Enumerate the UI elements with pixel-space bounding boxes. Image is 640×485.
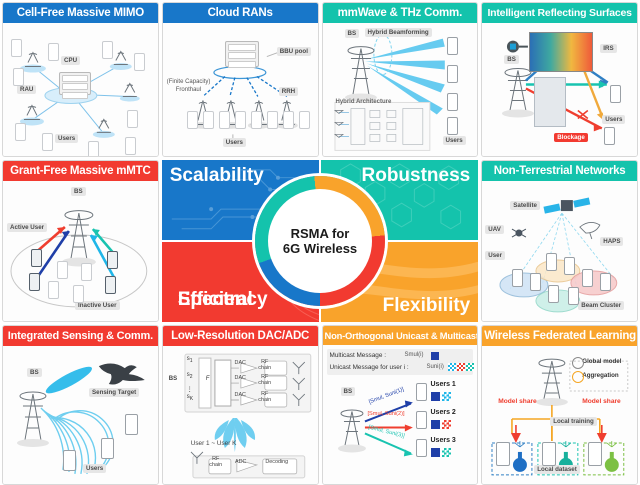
user1-phone — [416, 383, 427, 401]
irs-surface-icon — [529, 32, 593, 72]
label-bs: BS — [341, 387, 356, 396]
label-ellipsis: ⋮ — [187, 386, 193, 393]
label-irs: IRS — [600, 44, 616, 53]
user-phone — [127, 110, 138, 128]
user-phone — [604, 127, 615, 145]
label-dac: DAC — [233, 359, 248, 367]
user-phone — [42, 133, 53, 151]
panel-cloud-rans: Cloud RANs BBU pool — [162, 2, 319, 157]
user-phone — [13, 68, 24, 86]
label-users-3: Users 3 — [431, 437, 456, 444]
panel-grant-free-massive-mmtc: Grant-Free Massive mMTC BS — [2, 160, 159, 322]
arrow-label-user2: [Smul, Suni(2)] — [368, 411, 405, 417]
label-adc: ADC — [233, 457, 249, 466]
panel-diagram: BS Sensing Target Users — [3, 346, 158, 484]
panel-diagram: CPU RAU Users — [3, 23, 158, 156]
label-cpu: CPU — [61, 56, 80, 65]
active-user-phone — [107, 251, 118, 269]
label-bs: BS — [345, 29, 360, 38]
panel-wireless-federated-learning: Wireless Federated Learning — [481, 325, 638, 485]
user-phone — [600, 273, 611, 291]
device-phone — [542, 442, 556, 466]
user-phone — [610, 85, 621, 103]
label-fronthaul: Fronthaul — [176, 87, 201, 93]
label-bs: BS — [27, 368, 42, 377]
rsma-center-title: RSMA for 6G Wireless — [265, 226, 375, 256]
label-s2: s2 — [187, 372, 193, 380]
panel-non-terrestrial-networks: Non-Terrestrial Networks — [481, 160, 638, 322]
label-user: User — [485, 251, 505, 260]
active-user-phone — [29, 273, 40, 291]
quadrant-label-flexibility: Flexibility — [383, 296, 471, 316]
panel-diagram: BS Active User Inactive User — [3, 181, 158, 321]
user1-unicast-swatch — [442, 392, 451, 401]
label-haps: HAPS — [600, 237, 623, 246]
label-blockage: Blockage — [554, 133, 588, 142]
panel-title: Non-Terrestrial Networks — [482, 161, 637, 181]
user-phone — [203, 111, 214, 129]
user-phone — [134, 53, 145, 71]
user-phone — [546, 253, 557, 271]
label-users: Users — [83, 464, 106, 473]
panel-cell-free-massive-mimo: Cell-Free Massive MIMO — [2, 2, 159, 157]
rsma-6g-overview-figure: Cell-Free Massive MIMO — [0, 0, 640, 477]
label-users: Users — [443, 136, 466, 145]
user-phone — [219, 111, 230, 129]
active-user-phone — [105, 276, 116, 294]
user-phone — [48, 43, 59, 61]
label-rf-chain: RF chain — [255, 373, 275, 386]
label-model-share-left: Model share — [498, 398, 536, 405]
user-phone — [512, 269, 523, 287]
active-user-phone — [31, 249, 42, 267]
label-users-2: Users 2 — [431, 409, 456, 416]
user-phone — [187, 111, 198, 129]
panel-title: Integrated Sensing & Comm. — [3, 326, 158, 346]
label-users: Users — [223, 138, 246, 147]
label-hybrid-architecture: Hybrid Architecture — [336, 99, 392, 105]
panel-non-orthogonal-unicast-multicast: Non-Orthogonal Unicast & Multicast Multi… — [322, 325, 479, 485]
panel-title: Non-Orthogonal Unicast & Multicast — [323, 326, 478, 345]
label-rf-chain: RF chain — [255, 358, 275, 371]
panel-title: Cell-Free Massive MIMO — [3, 3, 158, 23]
center-title-line2: 6G Wireless — [283, 241, 357, 256]
user-phone — [582, 269, 593, 287]
user3-unicast-swatch — [442, 448, 451, 457]
inactive-user-phone — [73, 285, 84, 303]
user-phone — [447, 37, 458, 55]
label-f-matrix: F — [206, 376, 210, 382]
user-phone — [564, 257, 575, 275]
panel-diagram: BS Hybrid Beamforming Hybrid Architectur… — [323, 23, 478, 156]
panel-low-resolution-dac-adc: Low-Resolution DAC/ADC — [162, 325, 319, 485]
user-phone — [125, 414, 138, 435]
label-aggregation: Aggregation — [582, 372, 618, 379]
label-bbu-pool: BBU pool — [277, 47, 311, 56]
user-phone — [447, 117, 458, 135]
label-local-training: Local training — [550, 417, 597, 426]
label-model-share-right: Model share — [582, 398, 620, 405]
label-users: Users — [55, 134, 78, 143]
label-beam-cluster: Beam Cluster — [578, 301, 624, 310]
quadrant-label-scalability: Scalability — [170, 166, 264, 186]
panel-diagram: BS s1 s2 ⋮ sK F DAC DAC DAC RF chain RF … — [163, 346, 318, 484]
label-rau: RAU — [17, 85, 36, 94]
user-phone — [15, 123, 26, 141]
label-bs: BS — [504, 55, 519, 64]
label-dac: DAC — [233, 374, 248, 382]
user3-phone — [416, 439, 427, 457]
label-hybrid-beamforming: Hybrid Beamforming — [365, 28, 432, 37]
device-phone — [588, 442, 602, 466]
user-phone — [235, 111, 246, 129]
user-phone — [447, 93, 458, 111]
panel-title: mmWave & THz Comm. — [323, 3, 478, 23]
label-sk: sK — [187, 394, 193, 402]
user-phone — [102, 41, 113, 59]
inactive-user-phone — [48, 281, 59, 299]
panel-title: Cloud RANs — [163, 3, 318, 23]
user2-unicast-swatch — [442, 420, 451, 429]
label-active-user: Active User — [7, 223, 47, 232]
panel-diagram: IRS BS Users Blockage — [482, 23, 637, 156]
user-phone — [447, 65, 458, 83]
quadrant-label-robustness: Robustness — [362, 166, 471, 186]
panel-mmwave-thz-comm: mmWave & THz Comm. — [322, 2, 479, 157]
label-satellite: Satellite — [510, 201, 540, 210]
user-phone — [568, 287, 579, 305]
user-phone — [530, 273, 541, 291]
user1-multicast-swatch — [431, 392, 440, 401]
user-phone — [88, 141, 99, 156]
device-phone — [496, 442, 510, 466]
label-sensing-target: Sensing Target — [89, 388, 139, 397]
label-dac: DAC — [233, 391, 248, 399]
panel-diagram: Global model Aggregation Model share Mod… — [482, 346, 637, 484]
user2-phone — [416, 411, 427, 429]
inactive-user-phone — [81, 263, 92, 281]
bbu-pool-icon — [225, 41, 259, 67]
panel-intelligent-reflecting-surfaces: Intelligent Reflecting Surfaces — [481, 2, 638, 157]
ntn-svg — [482, 181, 637, 321]
label-rf-chain: RF chain — [206, 455, 226, 468]
panel-title: Intelligent Reflecting Surfaces — [482, 3, 637, 23]
user-phone — [267, 111, 278, 129]
user-phone — [299, 111, 310, 129]
building-icon — [534, 77, 566, 127]
label-user-range: User 1 ~ User K — [191, 440, 237, 447]
panel-diagram: Multicast Message : Smul(i) Unicast Mess… — [323, 345, 478, 484]
label-users-1: Users 1 — [431, 381, 456, 388]
inactive-user-phone — [57, 261, 68, 279]
user3-multicast-swatch — [431, 448, 440, 457]
label-s1: s1 — [187, 356, 193, 364]
user-phone — [548, 285, 559, 303]
panel-diagram: BBU pool RRH (Finite Capacity) Fronthaul… — [163, 23, 318, 156]
panel-diagram: Satellite UAV HAPS User Beam Cluster — [482, 181, 637, 321]
cpu-server-icon — [59, 72, 91, 95]
user-phone — [63, 450, 76, 471]
label-users: Users — [602, 115, 625, 124]
user-phone — [283, 111, 294, 129]
label-bs: BS — [169, 376, 177, 382]
label-finite-capacity: (Finite Capacity) — [167, 79, 211, 85]
label-decoding: Decoding — [261, 456, 293, 467]
label-rf-chain: RF chain — [255, 390, 275, 403]
center-title-line1: RSMA for — [291, 226, 350, 241]
label-global-model: Global model — [582, 358, 621, 365]
panel-integrated-sensing-comm: Integrated Sensing & Comm. — [2, 325, 159, 485]
label-uav: UAV — [485, 225, 504, 234]
user-phone — [125, 137, 136, 155]
label-rrh: RRH — [279, 87, 298, 96]
panel-title: Wireless Federated Learning — [482, 326, 637, 346]
user-phone — [251, 111, 262, 129]
user2-multicast-swatch — [431, 420, 440, 429]
panel-title: Grant-Free Massive mMTC — [3, 161, 158, 181]
user-phone — [101, 438, 114, 459]
label-bs: BS — [71, 187, 86, 196]
rsma-center-quadrant: Scalability Robustness — [162, 160, 479, 322]
panel-title: Low-Resolution DAC/ADC — [163, 326, 318, 346]
user-phone — [11, 39, 22, 57]
label-local-dataset: Local dataset — [534, 465, 580, 474]
